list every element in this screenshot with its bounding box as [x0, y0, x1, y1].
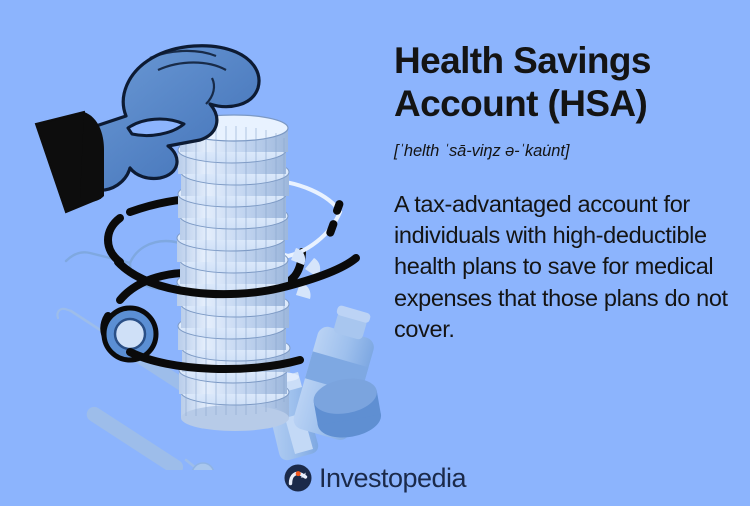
page-title: Health Savings Account (HSA): [394, 40, 728, 126]
coin-stack: [177, 115, 290, 431]
brand-wordmark: Investopedia: [319, 465, 466, 492]
pronunciation-text: [ˈhelth ˈsā-viŋz ə-ˈkau̇nt]: [394, 142, 728, 161]
hsa-illustration: [0, 0, 390, 470]
definition-text-column: Health Savings Account (HSA) [ˈhelth ˈsā…: [394, 40, 728, 345]
illustration-canvas: [0, 0, 390, 470]
investopedia-logo-icon: [284, 464, 312, 492]
definition-text: A tax-advantaged account for individuals…: [394, 189, 728, 345]
brand-footer: Investopedia: [0, 464, 750, 492]
hsa-definition-card: Health Savings Account (HSA) [ˈhelth ˈsā…: [0, 0, 750, 506]
